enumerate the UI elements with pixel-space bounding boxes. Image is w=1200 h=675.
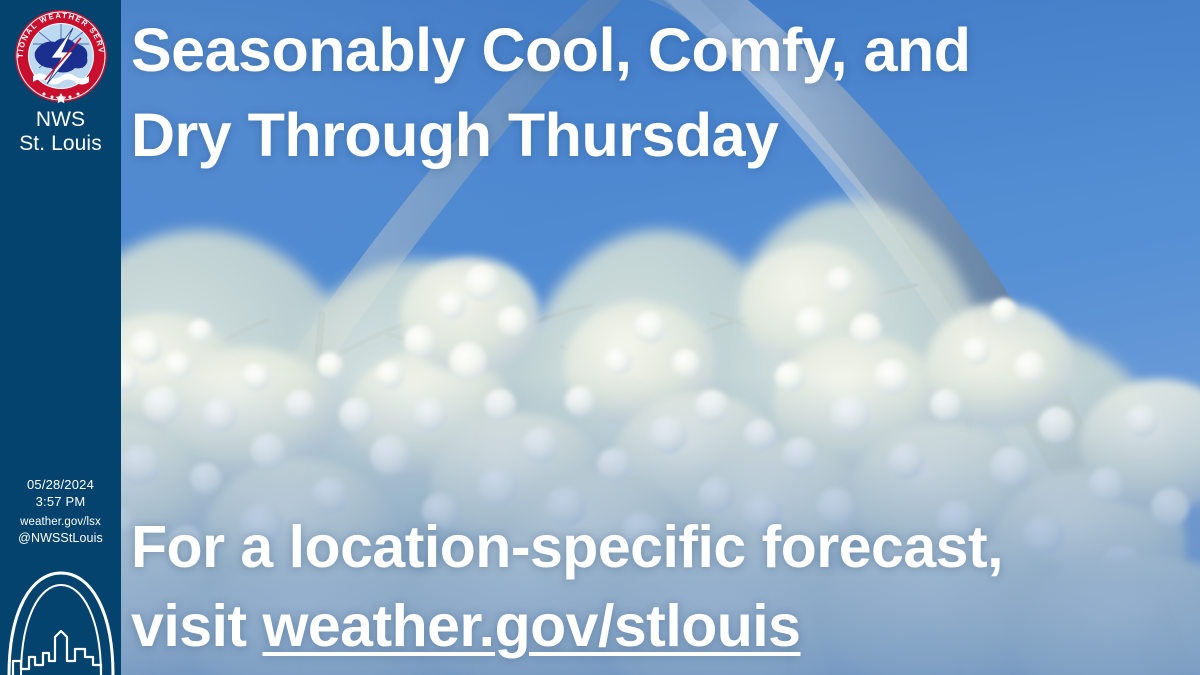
call-to-action: For a location-specific forecast, visit … [131, 508, 1193, 665]
weather-graphic: Seasonably Cool, Comfy, and Dry Through … [0, 0, 1200, 675]
office-name: NWS St. Louis [0, 108, 121, 155]
office-name-line-2: St. Louis [0, 132, 121, 156]
office-name-line-1: NWS [0, 108, 121, 132]
headline-line-2: Dry Through Thursday [131, 93, 1191, 178]
cta-visit-label: visit [131, 593, 262, 659]
sidebar: NATIONAL WEATHER SERVICE NWS St. Louis 0… [0, 0, 121, 675]
headline-line-1: Seasonably Cool, Comfy, and [131, 8, 1191, 93]
social-handle[interactable]: @NWSStLouis [0, 531, 121, 545]
gateway-arch-logo-icon [7, 565, 115, 675]
issue-date: 05/28/2024 [0, 477, 121, 492]
cta-line-1: For a location-specific forecast, [131, 508, 1193, 586]
website-text[interactable]: weather.gov/lsx [0, 516, 121, 528]
nws-seal-icon: NATIONAL WEATHER SERVICE [11, 6, 111, 106]
issue-time: 3:57 PM [0, 494, 121, 509]
cta-website-link[interactable]: weather.gov/stlouis [262, 593, 800, 659]
headline: Seasonably Cool, Comfy, and Dry Through … [131, 8, 1191, 179]
cta-line-2: visit weather.gov/stlouis [131, 587, 1193, 665]
